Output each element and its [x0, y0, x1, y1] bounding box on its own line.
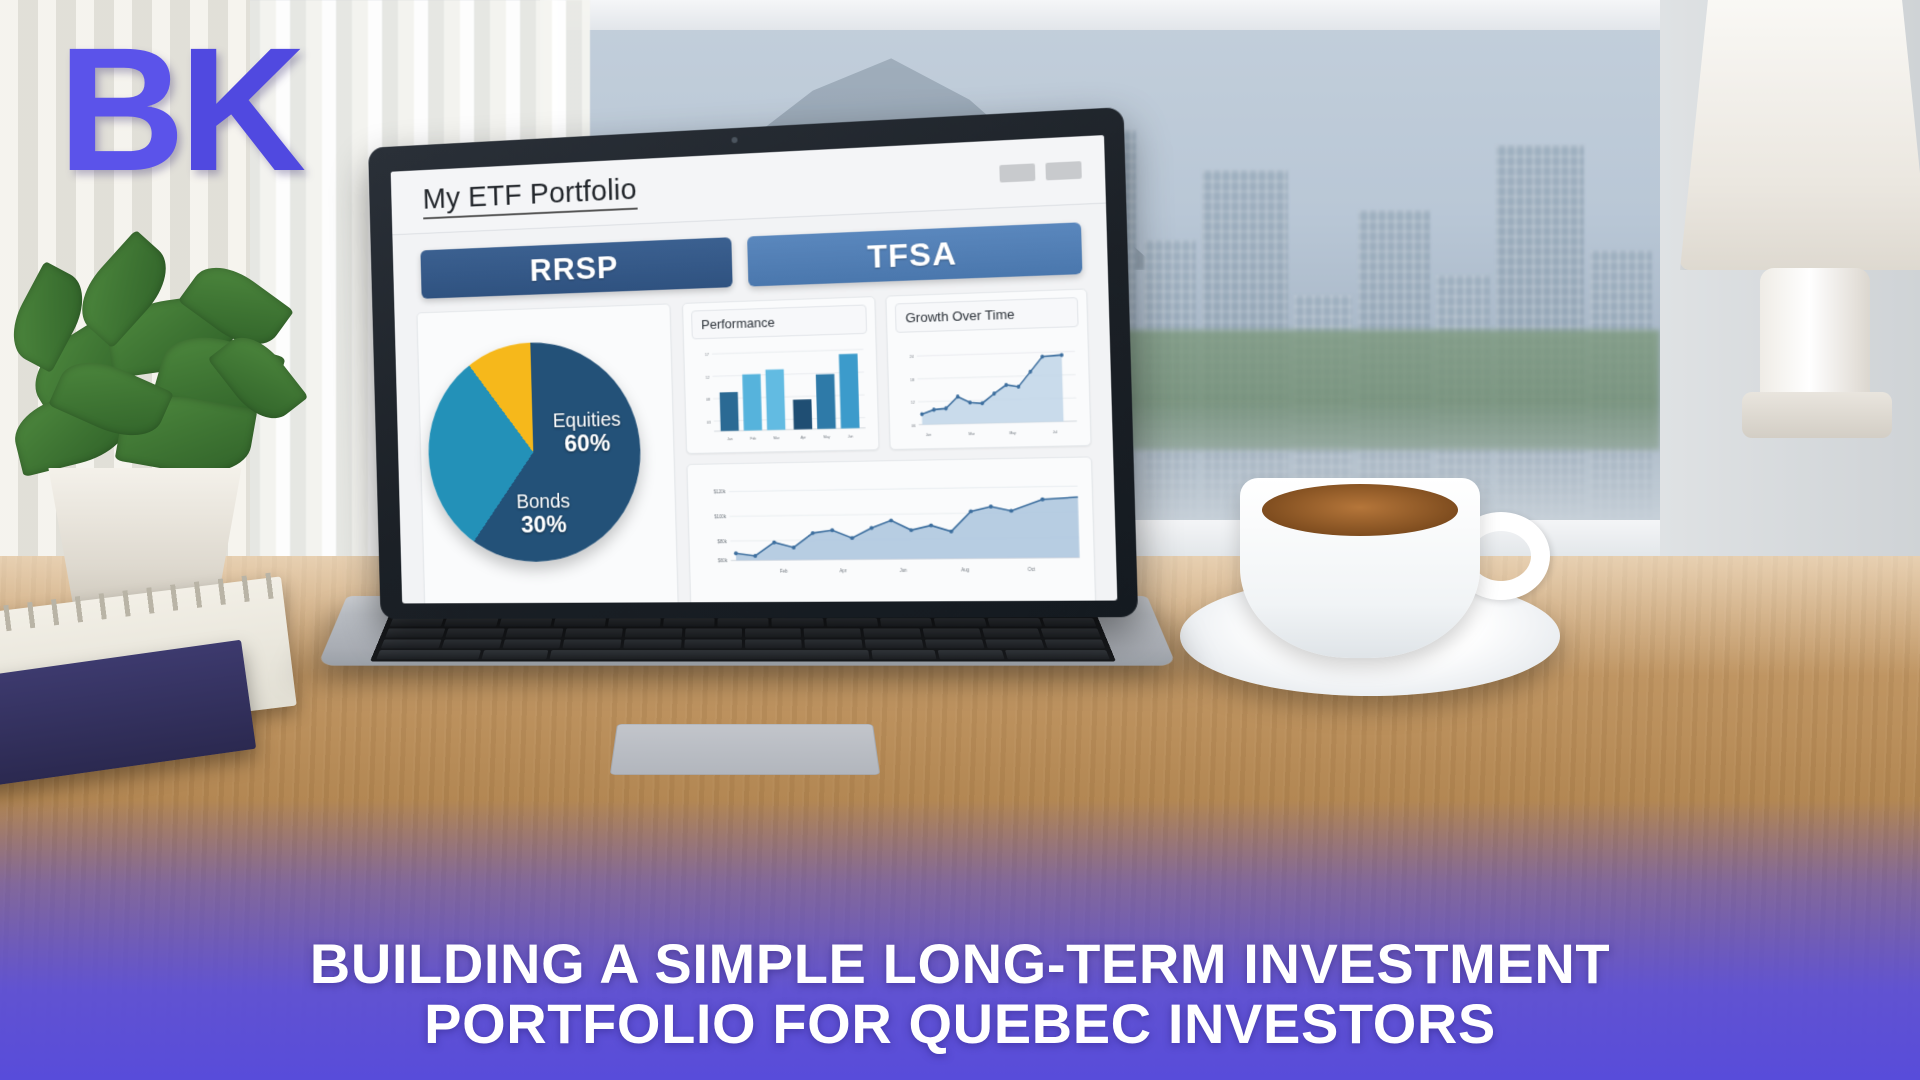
charts-column: Performance [682, 288, 1096, 603]
performance-title: Performance [691, 304, 867, 339]
minimize-button[interactable] [999, 163, 1035, 182]
svg-text:17: 17 [705, 353, 709, 358]
caption-banner: BUILDING A SIMPLE LONG-TERM INVESTMENT P… [0, 800, 1920, 1080]
svg-text:12: 12 [706, 375, 710, 380]
tab-rrsp-label: RRSP [529, 248, 619, 288]
logo-letter-b: B [58, 12, 179, 208]
webcam-icon [731, 137, 737, 143]
growth-chart: 24 18 12 06 Jan Mar May Jul [896, 332, 1082, 441]
svg-text:Feb: Feb [780, 568, 788, 573]
dashboard-body: Equities 60% Bonds 30% Performance [394, 273, 1117, 603]
svg-text:Jan: Jan [926, 432, 932, 437]
svg-text:Jul: Jul [1053, 430, 1058, 435]
window-frame-top [540, 0, 1690, 30]
svg-text:12: 12 [911, 401, 915, 406]
window-controls[interactable] [999, 161, 1082, 182]
growth-title: Growth Over Time [895, 297, 1079, 333]
svg-text:Jun: Jun [848, 434, 854, 439]
coffee-liquid [1262, 484, 1458, 536]
svg-text:May: May [824, 435, 831, 440]
svg-text:08: 08 [706, 397, 710, 402]
svg-text:Mar: Mar [774, 436, 781, 441]
trend-chart: $120k $100k $80k $60k Feb Apr Jun Aug Oc… [695, 466, 1085, 583]
tab-tfsa-label: TFSA [867, 234, 958, 275]
svg-text:24: 24 [910, 355, 914, 360]
laptop: My ETF Portfolio RRSP TFSA [355, 128, 1145, 748]
charts-top-row: Performance [682, 288, 1092, 454]
svg-text:Jun: Jun [900, 567, 908, 572]
svg-text:$80k: $80k [717, 539, 727, 544]
photo-scene: My ETF Portfolio RRSP TFSA [0, 0, 1920, 1080]
maximize-button[interactable] [1045, 161, 1081, 180]
performance-chart: 17 12 08 03 Jan Feb Mar Apr May [692, 339, 870, 446]
growth-card: Growth Over Time [885, 288, 1091, 450]
svg-text:06: 06 [911, 423, 915, 428]
pie-label-equities: Equities 60% [534, 408, 640, 459]
svg-text:May: May [1009, 431, 1016, 436]
allocation-card: Equities 60% Bonds 30% [417, 303, 679, 603]
trend-card: $120k $100k $80k $60k Feb Apr Jun Aug Oc… [686, 456, 1096, 603]
svg-text:Apr: Apr [801, 435, 807, 440]
caption-line-1: BUILDING A SIMPLE LONG-TERM INVESTMENT [310, 934, 1610, 994]
svg-text:Oct: Oct [1028, 566, 1036, 571]
svg-text:$100k: $100k [714, 514, 727, 519]
caption-line-2: PORTFOLIO FOR QUEBEC INVESTORS [424, 994, 1496, 1054]
laptop-screen: My ETF Portfolio RRSP TFSA [391, 135, 1118, 603]
logo-letter-k: K [179, 12, 300, 208]
svg-text:03: 03 [707, 420, 711, 425]
trackpad[interactable] [610, 724, 880, 775]
svg-text:Apr: Apr [840, 568, 848, 573]
svg-text:Jan: Jan [727, 437, 732, 442]
svg-text:Aug: Aug [961, 567, 970, 572]
svg-text:$120k: $120k [714, 489, 727, 494]
lamp-base-foot [1742, 392, 1892, 438]
svg-text:Mar: Mar [969, 431, 976, 436]
laptop-lid: My ETF Portfolio RRSP TFSA [368, 107, 1138, 619]
pie-label-bonds: Bonds 30% [491, 490, 597, 540]
svg-text:18: 18 [910, 378, 914, 383]
lamp-shade [1680, 0, 1920, 270]
svg-text:$60k: $60k [718, 558, 728, 563]
page-title: My ETF Portfolio [422, 173, 637, 219]
performance-card: Performance [682, 296, 880, 454]
svg-text:Feb: Feb [750, 436, 756, 441]
brand-logo: BK [58, 22, 300, 198]
